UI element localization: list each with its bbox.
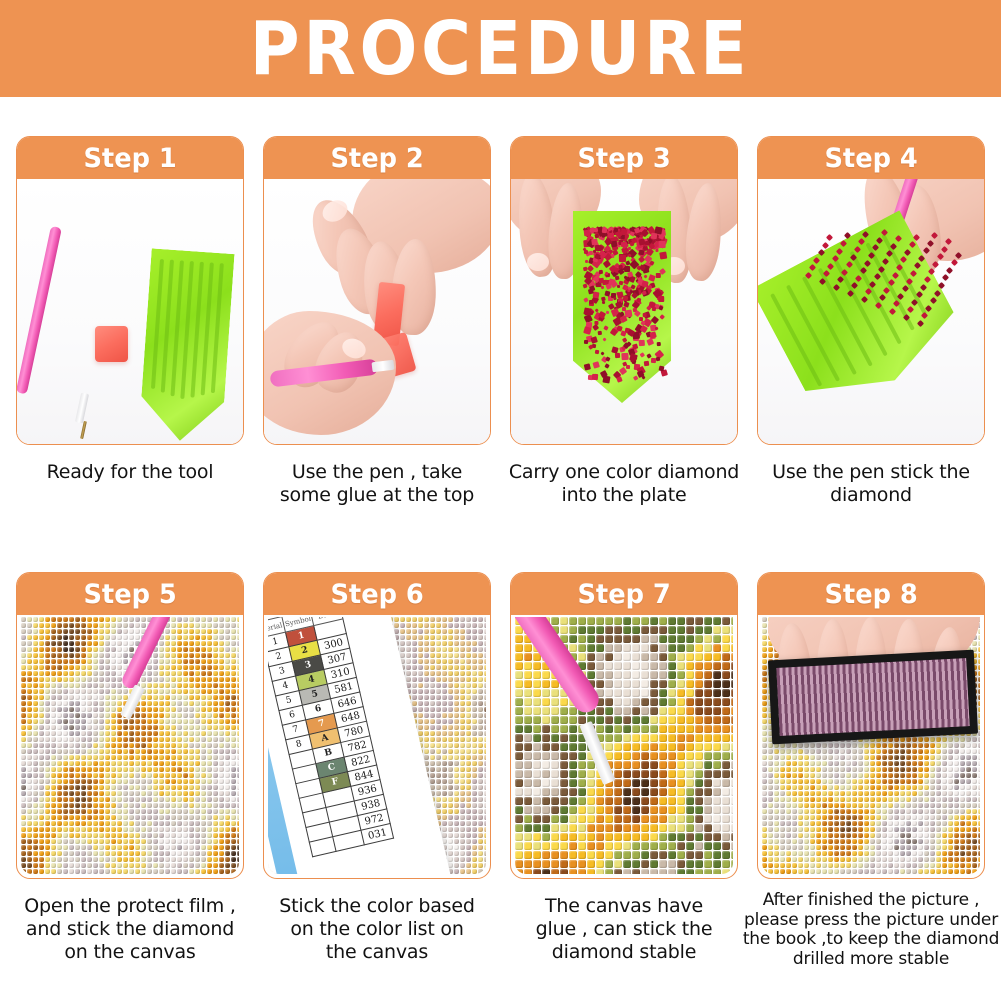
bead <box>560 860 568 868</box>
bead <box>237 635 239 640</box>
bead <box>578 635 586 643</box>
step-3-caption: Carry one color diamondinto the plate <box>498 461 750 507</box>
bead <box>695 761 703 769</box>
bead <box>448 839 453 844</box>
bead <box>641 734 649 742</box>
bead <box>117 809 122 814</box>
bead <box>704 770 712 778</box>
bead <box>424 743 429 748</box>
diamond-drill <box>626 365 631 370</box>
bead <box>524 752 532 760</box>
bead <box>27 863 32 868</box>
bead <box>466 635 471 640</box>
bead <box>484 629 486 634</box>
page-title: PROCEDURE <box>250 12 751 86</box>
bead <box>722 851 730 859</box>
bead <box>171 671 176 676</box>
step-card-6[interactable]: Step 6 SerialSymbolDMC112230033307443105… <box>263 572 491 970</box>
bead <box>460 851 465 856</box>
step-card-1[interactable]: Step 1 <box>16 136 244 507</box>
bead <box>713 707 721 715</box>
bead <box>99 767 104 772</box>
bead <box>442 635 447 640</box>
bead <box>686 860 694 868</box>
bead <box>27 767 32 772</box>
bead <box>27 791 32 796</box>
bead <box>195 683 200 688</box>
bead <box>731 698 733 706</box>
step-card-4[interactable]: Step 4 <box>757 136 985 507</box>
bead <box>135 743 140 748</box>
bead <box>686 734 694 742</box>
bead <box>21 833 26 838</box>
bead <box>135 851 140 856</box>
bead <box>39 767 44 772</box>
bead <box>63 791 68 796</box>
bead <box>596 626 604 634</box>
bead <box>195 617 200 622</box>
bead <box>117 635 122 640</box>
bead <box>159 869 164 874</box>
bead <box>111 701 116 706</box>
bead <box>668 644 676 652</box>
bead <box>478 797 483 802</box>
bead <box>632 734 640 742</box>
bead <box>632 644 640 652</box>
bead <box>45 815 50 820</box>
bead <box>177 719 182 724</box>
bead <box>111 665 116 670</box>
bead <box>569 734 577 742</box>
bead <box>183 629 188 634</box>
bead <box>123 797 128 802</box>
bead <box>81 851 86 856</box>
bead <box>21 773 26 778</box>
bead <box>129 869 134 874</box>
bead <box>686 752 694 760</box>
bead <box>231 737 236 742</box>
bead <box>123 827 128 832</box>
aligned-diamond-rows <box>758 179 984 444</box>
bead <box>442 755 447 760</box>
bead <box>45 617 50 622</box>
bead <box>69 713 74 718</box>
bead <box>153 707 158 712</box>
bead <box>533 761 541 769</box>
bead <box>69 863 74 868</box>
bead <box>623 617 631 625</box>
bead <box>231 851 236 856</box>
bead <box>87 683 92 688</box>
bead <box>225 719 230 724</box>
bead <box>596 806 604 814</box>
bead <box>762 635 767 640</box>
bead <box>153 839 158 844</box>
bead <box>454 659 459 664</box>
bead <box>614 707 622 715</box>
bead <box>436 647 441 652</box>
step-2-card[interactable]: Step 2 <box>263 136 491 445</box>
bead <box>207 683 212 688</box>
bead <box>460 707 465 712</box>
bead <box>213 797 218 802</box>
bead <box>448 695 453 700</box>
bead <box>213 635 218 640</box>
bead <box>195 857 200 862</box>
bead <box>400 617 405 622</box>
bead <box>418 719 423 724</box>
bead <box>478 629 483 634</box>
bead <box>57 635 62 640</box>
bead <box>472 623 477 628</box>
bead <box>524 824 532 832</box>
bead <box>159 737 164 742</box>
bead <box>533 752 541 760</box>
bead <box>177 857 182 862</box>
bead <box>219 821 224 826</box>
bead <box>713 860 721 868</box>
bead <box>472 785 477 790</box>
bead <box>45 677 50 682</box>
step-card-7[interactable]: Step 7 The canvas haveglue , can stick t… <box>510 572 738 970</box>
bead <box>762 647 767 652</box>
bead <box>418 647 423 652</box>
bead <box>141 821 146 826</box>
bead <box>237 845 239 850</box>
bead <box>69 677 74 682</box>
bead <box>237 731 239 736</box>
bead <box>484 869 486 874</box>
bead <box>93 653 98 658</box>
bead <box>424 731 429 736</box>
bead <box>99 779 104 784</box>
bead <box>731 869 733 874</box>
bead <box>677 761 685 769</box>
bead <box>177 767 182 772</box>
bead <box>650 671 658 679</box>
bead <box>147 803 152 808</box>
bead <box>560 869 568 874</box>
bead <box>418 671 423 676</box>
bead <box>213 845 218 850</box>
bead <box>478 695 483 700</box>
scene-tools-layout <box>17 179 243 444</box>
bead <box>551 725 559 733</box>
bead <box>515 770 523 778</box>
bead <box>87 785 92 790</box>
bead <box>442 653 447 658</box>
bead <box>466 719 471 724</box>
bead <box>731 806 733 814</box>
bead <box>153 809 158 814</box>
bead <box>159 743 164 748</box>
bead <box>81 827 86 832</box>
bead <box>39 629 44 634</box>
bead <box>623 797 631 805</box>
bead <box>93 743 98 748</box>
bead <box>551 698 559 706</box>
bead <box>105 737 110 742</box>
bead <box>33 737 38 742</box>
bead <box>406 653 411 658</box>
step-6-card[interactable]: Step 6 SerialSymbolDMC112230033307443105… <box>263 572 491 879</box>
bead <box>686 797 694 805</box>
bead <box>153 821 158 826</box>
bead <box>165 725 170 730</box>
bead <box>51 665 56 670</box>
bead <box>704 752 712 760</box>
bead <box>159 695 164 700</box>
diamond-drill <box>617 285 621 289</box>
diamond-drill <box>634 310 641 317</box>
bead <box>135 797 140 802</box>
bead <box>195 665 200 670</box>
bead <box>614 761 622 769</box>
bead <box>533 869 541 874</box>
bead <box>704 626 712 634</box>
bead <box>668 824 676 832</box>
step-3-header-label: Step 3 <box>577 145 670 172</box>
bead <box>524 743 532 751</box>
bead <box>668 797 676 805</box>
bead <box>472 821 477 826</box>
bead <box>39 659 44 664</box>
bead <box>484 779 486 784</box>
bead <box>207 695 212 700</box>
bead <box>225 731 230 736</box>
bead <box>650 851 658 859</box>
bead <box>478 851 483 856</box>
bead <box>569 743 577 751</box>
bead <box>105 707 110 712</box>
bead <box>39 713 44 718</box>
bead <box>231 725 236 730</box>
bead <box>75 761 80 766</box>
bead <box>117 803 122 808</box>
bead <box>189 851 194 856</box>
bead <box>57 791 62 796</box>
bead <box>45 623 50 628</box>
bead <box>686 671 694 679</box>
bead <box>704 689 712 697</box>
bead <box>183 761 188 766</box>
bead <box>165 731 170 736</box>
bead <box>213 767 218 772</box>
bead <box>632 770 640 778</box>
bead <box>135 869 140 874</box>
bead <box>27 725 32 730</box>
bead <box>123 779 128 784</box>
bead <box>400 635 405 640</box>
bead <box>177 809 182 814</box>
bead <box>225 749 230 754</box>
bead <box>418 665 423 670</box>
bead <box>105 851 110 856</box>
bead <box>460 761 465 766</box>
step-card-8[interactable]: Step 8 <box>757 572 985 970</box>
bead <box>484 767 486 772</box>
bead <box>81 779 86 784</box>
bead <box>484 803 486 808</box>
bead <box>87 863 92 868</box>
bead <box>587 815 595 823</box>
bead <box>201 791 206 796</box>
page-banner: PROCEDURE <box>0 0 1001 97</box>
bead <box>171 851 176 856</box>
bead <box>542 806 550 814</box>
diamond-drill <box>903 314 910 321</box>
bead <box>21 845 26 850</box>
bead <box>219 833 224 838</box>
bead <box>677 860 685 868</box>
bead <box>478 665 483 670</box>
bead <box>207 827 212 832</box>
bead <box>39 635 44 640</box>
bead <box>524 842 532 850</box>
bead <box>695 797 703 805</box>
bead <box>560 797 568 805</box>
bead <box>129 647 134 652</box>
step-1-card[interactable]: Step 1 <box>16 136 244 445</box>
bead <box>641 707 649 715</box>
bead <box>87 647 92 652</box>
bead <box>171 767 176 772</box>
bead <box>605 707 613 715</box>
bead <box>515 761 523 769</box>
bead <box>731 824 733 832</box>
bead <box>400 647 405 652</box>
step-5-card[interactable]: Step 5 <box>16 572 244 879</box>
bead <box>542 752 550 760</box>
diamond-drill <box>874 273 881 280</box>
bead <box>466 701 471 706</box>
bead <box>466 779 471 784</box>
bead <box>448 827 453 832</box>
step-3-card[interactable]: Step 3 <box>510 136 738 445</box>
bead <box>111 773 116 778</box>
bead <box>460 839 465 844</box>
diamond-drill <box>611 346 618 353</box>
bead <box>57 641 62 646</box>
bead <box>484 725 486 730</box>
bead <box>33 689 38 694</box>
bead <box>430 653 435 658</box>
bead <box>177 803 182 808</box>
bead <box>560 815 568 823</box>
bead <box>454 635 459 640</box>
bead <box>153 761 158 766</box>
bead <box>484 755 486 760</box>
bead <box>195 635 200 640</box>
bead <box>87 821 92 826</box>
bead <box>51 773 56 778</box>
bead <box>45 827 50 832</box>
bead <box>165 677 170 682</box>
bead <box>551 842 559 850</box>
bead <box>578 851 586 859</box>
bead <box>51 797 56 802</box>
step-card-5[interactable]: Step 5 Open the protect film ,and stick … <box>16 572 244 970</box>
bead <box>704 635 712 643</box>
bead <box>704 653 712 661</box>
bead <box>159 707 164 712</box>
bead <box>33 785 38 790</box>
bead <box>614 644 622 652</box>
bead <box>472 839 477 844</box>
bead <box>213 785 218 790</box>
step-4-card[interactable]: Step 4 <box>757 136 985 445</box>
bead <box>105 755 110 760</box>
bead <box>542 671 550 679</box>
bead <box>195 671 200 676</box>
bead <box>394 623 399 628</box>
bead <box>569 716 577 724</box>
bead <box>722 644 730 652</box>
step-7-card[interactable]: Step 7 <box>510 572 738 879</box>
bead <box>454 815 459 820</box>
bead <box>460 803 465 808</box>
bead <box>677 644 685 652</box>
bead <box>596 860 604 868</box>
step-8-card[interactable]: Step 8 <box>757 572 985 879</box>
step-card-3[interactable]: Step 3 <box>510 136 738 507</box>
bead <box>560 806 568 814</box>
bead <box>418 635 423 640</box>
bead <box>111 743 116 748</box>
bead <box>659 689 667 697</box>
bead <box>81 629 86 634</box>
bead <box>454 755 459 760</box>
bead <box>472 755 477 760</box>
bead <box>33 863 38 868</box>
bead <box>237 821 239 826</box>
bead <box>472 713 477 718</box>
bead <box>533 842 541 850</box>
bead <box>569 626 577 634</box>
bead <box>201 857 206 862</box>
diamond-drill <box>875 302 882 309</box>
bead <box>650 788 658 796</box>
steps-row-2: Step 5 Open the protect film ,and stick … <box>0 572 1001 970</box>
bead <box>75 815 80 820</box>
bead <box>641 680 649 688</box>
bead <box>21 629 26 634</box>
bead <box>231 803 236 808</box>
bead <box>45 791 50 796</box>
bead <box>39 779 44 784</box>
bead <box>45 761 50 766</box>
bead <box>183 743 188 748</box>
bead <box>460 701 465 706</box>
bead <box>105 725 110 730</box>
bead <box>650 761 658 769</box>
diamond-drill <box>603 337 607 341</box>
bead <box>515 797 523 805</box>
step-6-header-label: Step 6 <box>330 581 423 608</box>
bead <box>978 653 980 658</box>
bead <box>524 770 532 778</box>
diamond-drill <box>923 247 930 254</box>
bead <box>231 857 236 862</box>
bead <box>551 689 559 697</box>
bead <box>171 629 176 634</box>
step-card-2[interactable]: Step 2 <box>263 136 491 507</box>
bead <box>63 743 68 748</box>
bead <box>436 689 441 694</box>
bead <box>117 791 122 796</box>
bead <box>231 845 236 850</box>
diamond-drill <box>621 330 627 336</box>
